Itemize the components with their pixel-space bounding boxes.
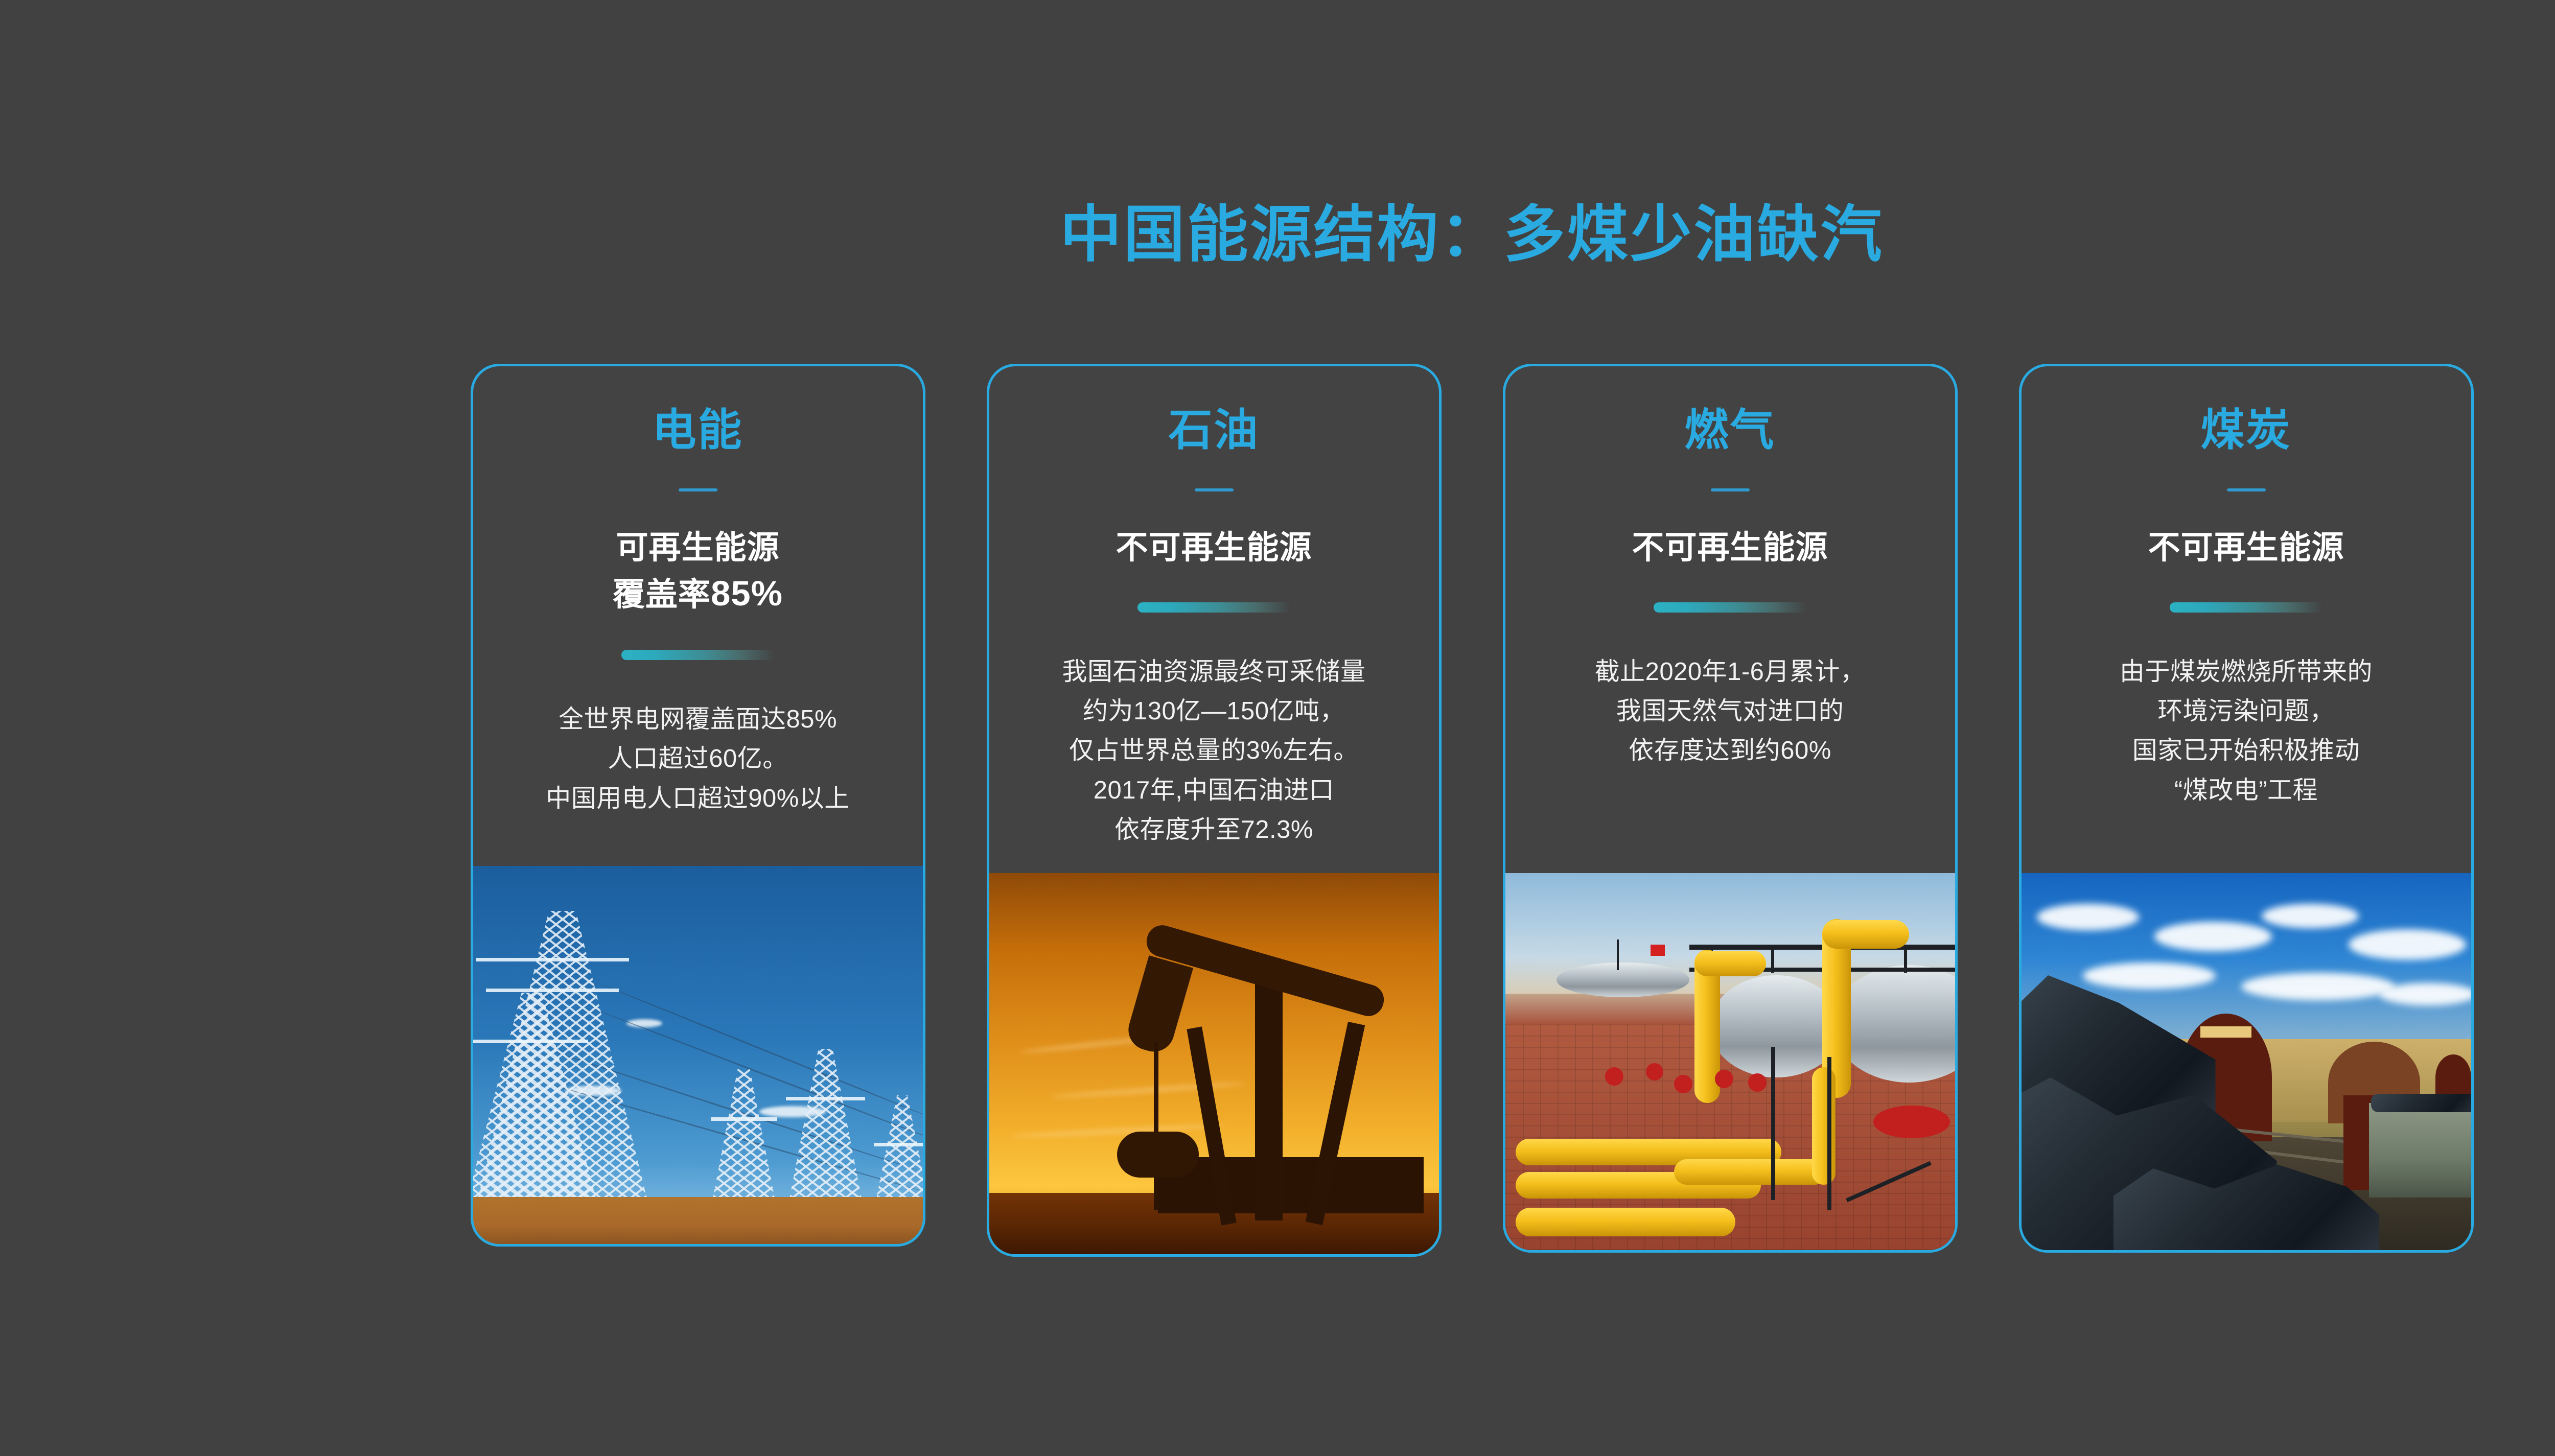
description-line: 我国石油资源最终可采储量 bbox=[1062, 658, 1365, 686]
cloud-shape bbox=[1051, 1081, 1245, 1099]
description-line: 依存度达到约60% bbox=[1629, 737, 1831, 764]
accent-bar-wrap bbox=[2042, 602, 2451, 613]
gas-pipe bbox=[1674, 1159, 1827, 1185]
accent-bar bbox=[1137, 602, 1291, 613]
gas-pipe bbox=[1516, 1208, 1735, 1236]
description-line: 全世界电网覆盖面达85% bbox=[559, 706, 837, 733]
title-divider bbox=[679, 488, 717, 491]
cloud-shape bbox=[2379, 983, 2471, 1005]
accent-bar bbox=[2170, 602, 2323, 613]
stair-rail bbox=[1827, 1057, 1831, 1210]
energy-card-coal[interactable]: 煤炭 不可再生能源 由于煤炭燃烧所带来的 环境污染问题， 国家已开始积极推动 “… bbox=[2019, 364, 2474, 1253]
pumpjack-post bbox=[1255, 980, 1283, 1220]
description-line: 2017年,中国石油进口 bbox=[1094, 777, 1335, 804]
cloud-shape bbox=[2154, 922, 2272, 951]
card-photo-power-transmission-towers bbox=[473, 866, 923, 1244]
valve-wheel bbox=[1873, 1106, 1950, 1138]
card-title: 燃气 bbox=[1526, 406, 1935, 455]
energy-card-petroleum[interactable]: 石油 不可再生能源 我国石油资源最终可采储量 约为130亿—150亿吨， 仅占世… bbox=[987, 364, 1442, 1257]
gas-pipe bbox=[1822, 920, 1909, 949]
card-subtitle-value: 85% bbox=[711, 574, 783, 613]
valve-wheel bbox=[1646, 1063, 1663, 1081]
mine-cart bbox=[2369, 1103, 2471, 1197]
page-title: 中国能源结构：多煤少油缺汽 bbox=[0, 199, 2555, 270]
catwalk-post bbox=[1904, 945, 1907, 973]
card-body: 煤炭 不可再生能源 由于煤炭燃烧所带来的 环境污染问题， 国家已开始积极推动 “… bbox=[2022, 366, 2471, 810]
card-subtitle-line2-prefix: 覆盖率 bbox=[613, 577, 711, 613]
description-line: 人口超过60亿。 bbox=[608, 745, 788, 772]
pumpjack-base bbox=[1158, 1157, 1424, 1213]
pumpjack-polished-rod bbox=[1154, 1042, 1158, 1210]
valve-wheel bbox=[1715, 1070, 1733, 1088]
power-line bbox=[600, 983, 923, 1119]
description-line: 依存度升至72.3% bbox=[1114, 816, 1313, 843]
card-description: 全世界电网覆盖面达85% 人口超过60亿。 中国用电人口超过90%以上 bbox=[494, 700, 902, 818]
pumpjack-horsehead bbox=[1123, 955, 1193, 1056]
valve-wheel bbox=[1674, 1075, 1692, 1093]
card-subtitle: 不可再生能源 bbox=[1526, 526, 1935, 570]
accent-bar-wrap bbox=[494, 650, 902, 660]
tower-arm bbox=[486, 989, 619, 992]
description-line: 约为130亿—150亿吨， bbox=[1083, 697, 1345, 725]
gas-pipe bbox=[1812, 1067, 1836, 1185]
cloud-shape bbox=[1010, 1123, 1224, 1139]
description-line: 环境污染问题， bbox=[2157, 697, 2335, 725]
title-divider bbox=[1195, 488, 1234, 491]
gas-pipe bbox=[1694, 951, 1766, 976]
accent-bar bbox=[621, 650, 775, 660]
cloud-shape bbox=[2262, 904, 2359, 928]
coal-load bbox=[2371, 1094, 2471, 1112]
card-subtitle-line1: 可再生能源 bbox=[616, 530, 780, 566]
card-description: 截止2020年1-6月累计， 我国天然气对进口的 依存度达到约60% bbox=[1526, 652, 1935, 771]
card-subtitle-line1: 不可再生能源 bbox=[1116, 530, 1312, 566]
description-line: 中国用电人口超过90%以上 bbox=[546, 785, 850, 812]
flag-icon bbox=[1651, 945, 1665, 956]
tower-arm bbox=[711, 1117, 777, 1121]
tower-arm bbox=[786, 1097, 865, 1100]
title-divider bbox=[2227, 488, 2266, 491]
card-subtitle-line1: 不可再生能源 bbox=[2148, 530, 2344, 566]
stair-rail bbox=[1771, 1047, 1775, 1200]
energy-card-electricity[interactable]: 电能 可再生能源 覆盖率85% 全世界电网覆盖面达85% 人口超过60亿。 中国… bbox=[471, 364, 925, 1247]
title-divider bbox=[1711, 488, 1750, 491]
ground-plane bbox=[473, 1197, 923, 1244]
card-photo-oil-pumpjack-sunset bbox=[989, 873, 1439, 1254]
card-body: 燃气 不可再生能源 截止2020年1-6月累计， 我国天然气对进口的 依存度达到… bbox=[1505, 366, 1955, 771]
energy-cards-row: 电能 可再生能源 覆盖率85% 全世界电网覆盖面达85% 人口超过60亿。 中国… bbox=[0, 364, 2555, 1257]
card-subtitle: 可再生能源 覆盖率85% bbox=[494, 526, 902, 617]
card-photo-gas-processing-plant bbox=[1505, 873, 1955, 1250]
description-line: 我国天然气对进口的 bbox=[1616, 697, 1844, 725]
accent-bar-wrap bbox=[1526, 602, 1935, 613]
tower-arm bbox=[476, 958, 629, 961]
card-subtitle: 不可再生能源 bbox=[2042, 526, 2451, 570]
cloud-shape bbox=[2349, 929, 2466, 960]
description-line: “煤改电”工程 bbox=[2174, 777, 2318, 804]
oil-tank bbox=[1117, 1132, 1199, 1178]
accent-bar-wrap bbox=[1010, 602, 1419, 613]
card-title: 电能 bbox=[494, 406, 902, 455]
description-line: 截止2020年1-6月累计， bbox=[1595, 658, 1866, 686]
card-subtitle-line1: 不可再生能源 bbox=[1632, 530, 1828, 566]
description-line: 由于煤炭燃烧所带来的 bbox=[2120, 658, 2373, 686]
cloud-shape bbox=[2083, 962, 2216, 989]
card-body: 电能 可再生能源 覆盖率85% 全世界电网覆盖面达85% 人口超过60亿。 中国… bbox=[473, 366, 923, 818]
card-subtitle: 不可再生能源 bbox=[1010, 526, 1419, 570]
card-title: 石油 bbox=[1010, 406, 1419, 455]
energy-card-gas[interactable]: 燃气 不可再生能源 截止2020年1-6月累计， 我国天然气对进口的 依存度达到… bbox=[1503, 364, 1958, 1253]
tower-arm bbox=[473, 1040, 588, 1043]
valve-wheel bbox=[1605, 1067, 1623, 1086]
cloud-shape bbox=[2037, 904, 2139, 930]
card-photo-coal-mine-entrance bbox=[2022, 873, 2471, 1250]
mast bbox=[1617, 940, 1619, 970]
accent-bar bbox=[1654, 602, 1807, 613]
storage-tank bbox=[1557, 962, 1689, 997]
card-description: 我国石油资源最终可采储量 约为130亿—150亿吨， 仅占世界总量的3%左右。 … bbox=[1010, 652, 1419, 850]
card-title: 煤炭 bbox=[2042, 406, 2451, 455]
valve-wheel bbox=[1748, 1073, 1767, 1092]
description-line: 国家已开始积极推动 bbox=[2132, 737, 2360, 764]
catwalk-post bbox=[1771, 945, 1774, 973]
card-description: 由于煤炭燃烧所带来的 环境污染问题， 国家已开始积极推动 “煤改电”工程 bbox=[2042, 652, 2451, 811]
tower-arm bbox=[874, 1143, 923, 1146]
cloud-shape bbox=[2241, 973, 2395, 1000]
card-body: 石油 不可再生能源 我国石油资源最终可采储量 约为130亿—150亿吨， 仅占世… bbox=[989, 366, 1439, 850]
transmission-tower bbox=[790, 1049, 862, 1197]
mine-sign bbox=[2200, 1026, 2251, 1038]
description-line: 仅占世界总量的3%左右。 bbox=[1069, 737, 1359, 764]
